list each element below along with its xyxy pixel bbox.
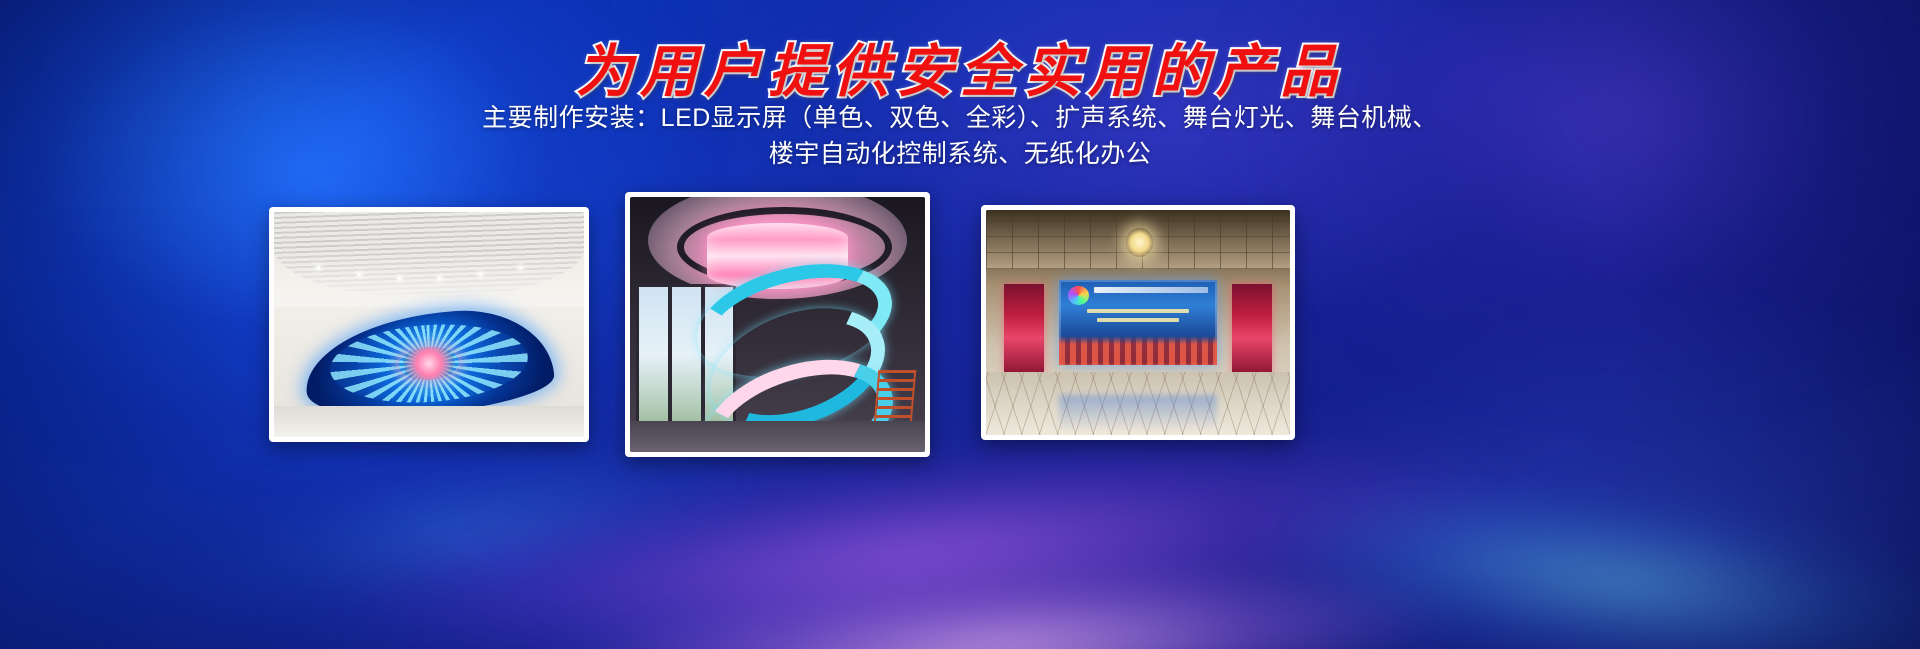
screen-text-line [1097, 318, 1179, 322]
subtitle-line-1: 主要制作安装：LED显示屏（单色、双色、全彩）、扩声系统、舞台灯光、舞台机械、 [0, 100, 1920, 136]
side-led-panel-right [1232, 284, 1272, 374]
ceiling-fade [274, 212, 584, 307]
banner-title: 为用户提供安全实用的产品 [0, 26, 1920, 108]
ceiling-spotlight [519, 266, 522, 269]
subtitle-line-2: 楼宇自动化控制系统、无纸化办公 [0, 136, 1920, 172]
ceiling-spotlight [479, 273, 482, 276]
atrium-floor [630, 421, 925, 452]
ceiling-spotlight [358, 273, 361, 276]
screen-skyline-graphic [1059, 336, 1217, 365]
gallery-photo-spiral-ribbon-led-column[interactable] [625, 192, 930, 457]
window-mullion [701, 284, 705, 442]
banner-subtitle: 主要制作安装：LED显示屏（单色、双色、全彩）、扩声系统、舞台灯光、舞台机械、 … [0, 100, 1920, 172]
gallery-photo-conference-hall-led-wall[interactable] [981, 205, 1295, 440]
side-led-panel-left [1004, 284, 1044, 374]
promo-banner: 为用户提供安全实用的产品 主要制作安装：LED显示屏（单色、双色、全彩）、扩声系… [0, 0, 1920, 649]
glow-pink-core [414, 509, 1575, 649]
light-streak-1 [0, 447, 1374, 649]
screen-headline-bar [1094, 287, 1208, 293]
light-streak-2 [230, 467, 1900, 649]
lobby-floor [274, 406, 584, 438]
floor-reflection [1059, 395, 1217, 431]
photo-conference-hall-led-wall [986, 210, 1290, 435]
photo-spiral-ribbon-led-column [630, 197, 925, 452]
photo-eye-shaped-led-display [274, 212, 584, 437]
gallery-photo-eye-shaped-led-display[interactable] [269, 207, 589, 442]
screen-text-line [1087, 309, 1188, 313]
light-streak-3 [507, 489, 1920, 649]
window-mullion [668, 284, 672, 442]
company-logo-graphic [1068, 286, 1089, 305]
main-led-screen [1059, 280, 1217, 366]
project-photo-gallery [0, 190, 1920, 470]
